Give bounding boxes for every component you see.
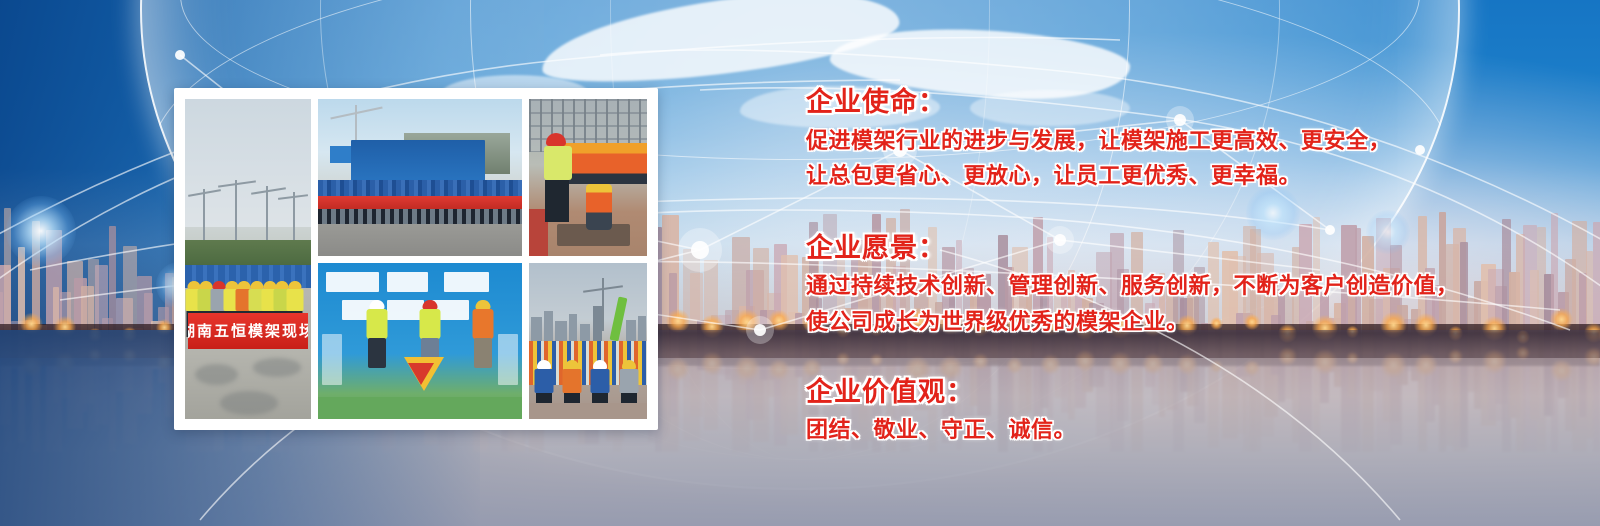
mission-heading: 企业使命： bbox=[806, 82, 1576, 123]
vision-block: 企业愿景： 通过持续技术创新、管理创新、服务创新，不断为客户创造价值， 使公司成… bbox=[806, 228, 1576, 340]
ground bbox=[529, 403, 647, 419]
grass bbox=[318, 397, 522, 419]
tower-light-glow bbox=[6, 196, 76, 266]
worker bbox=[347, 300, 408, 397]
vision-line-2: 使公司成长为世界级优秀的模架企业。 bbox=[806, 304, 1576, 340]
pavement bbox=[185, 349, 311, 419]
culture-text-group: 企业使命： 促进模架行业的进步与发展，让模架施工更高效、更安全， 让总包更省心、… bbox=[806, 82, 1576, 452]
banner-text: 湖南五恒模架现场 bbox=[188, 313, 309, 348]
pennant-inner bbox=[408, 363, 434, 385]
supervisor bbox=[541, 133, 567, 227]
mission-line-2: 让总包更省心、更放心，让员工更优秀、更幸福。 bbox=[806, 158, 1576, 194]
vision-line-1: 通过持续技术创新、管理创新、服务创新，不断为客户创造价值， bbox=[806, 268, 1576, 304]
vision-heading: 企业愿景： bbox=[806, 228, 1576, 269]
photo-collage[interactable]: 湖南五恒模架现场 bbox=[174, 88, 658, 430]
company-culture-banner: 湖南五恒模架现场 bbox=[0, 0, 1600, 526]
mission-block: 企业使命： 促进模架行业的进步与发展，让模架施工更高效、更安全， 让总包更省心、… bbox=[806, 82, 1576, 194]
tower-cranes bbox=[185, 169, 311, 246]
crane-mast bbox=[602, 278, 604, 331]
photo-group-banner[interactable]: 湖南五恒模架现场 bbox=[185, 99, 311, 419]
photo-site-billboard[interactable] bbox=[318, 99, 522, 256]
crane-jib bbox=[331, 106, 383, 119]
mission-line-1: 促进模架行业的进步与发展，让模架施工更高效、更安全， bbox=[806, 123, 1576, 159]
foreground-workers bbox=[529, 360, 647, 407]
city-skyline bbox=[529, 300, 647, 341]
photo-large-assembly[interactable] bbox=[529, 263, 647, 420]
ground bbox=[318, 224, 522, 255]
tree-line bbox=[185, 240, 311, 266]
values-line-1: 团结、敬业、守正、诚信。 bbox=[806, 412, 1576, 448]
photo-three-workers-pennant[interactable] bbox=[318, 263, 522, 420]
values-block: 企业价值观： 团结、敬业、守正、诚信。 bbox=[806, 372, 1576, 448]
values-heading: 企业价值观： bbox=[806, 372, 1576, 413]
worker-line bbox=[564, 143, 647, 184]
seated-worker bbox=[586, 184, 612, 231]
photo-safety-demo[interactable] bbox=[529, 99, 647, 256]
worker bbox=[453, 300, 514, 397]
